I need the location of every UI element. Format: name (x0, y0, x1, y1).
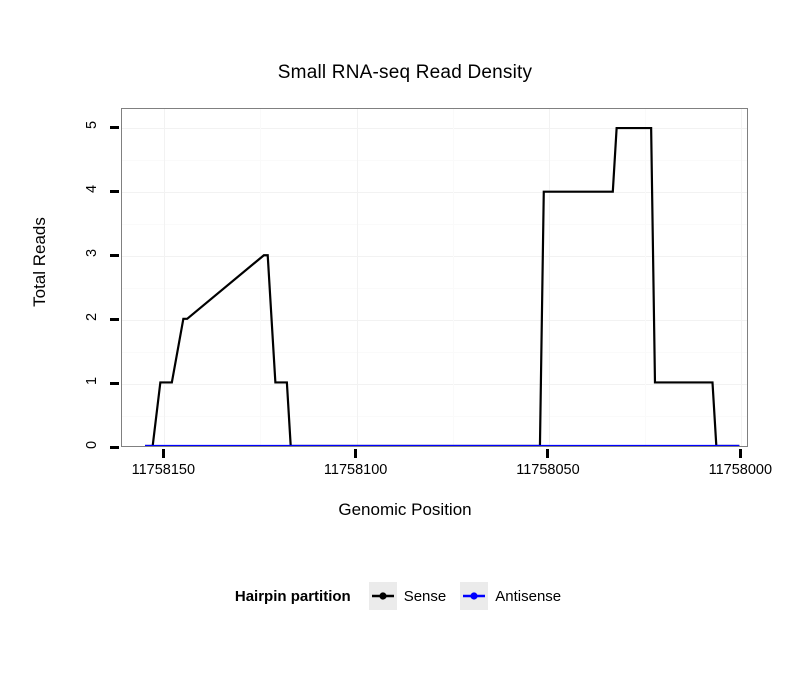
x-tick (739, 449, 742, 458)
legend-title: Hairpin partition (235, 588, 351, 605)
x-tick-label: 11758150 (98, 462, 228, 478)
legend-label-sense: Sense (404, 588, 447, 605)
legend-label-antisense: Antisense (495, 588, 561, 605)
legend-key-sense-icon (369, 582, 397, 610)
series-layer (122, 109, 747, 446)
x-tick-label: 11758050 (483, 462, 613, 478)
y-tick (110, 190, 119, 193)
legend-item-sense[interactable]: Sense (369, 582, 447, 610)
series-line-sense (145, 128, 739, 446)
y-tick (110, 382, 119, 385)
chart-root: Small RNA-seq Read Density 1175815011758… (0, 0, 810, 690)
y-axis-title: Total Reads (30, 162, 50, 362)
x-tick (354, 449, 357, 458)
y-tick (110, 126, 119, 129)
x-tick-label: 11758000 (675, 462, 805, 478)
x-tick (162, 449, 165, 458)
x-tick (546, 449, 549, 458)
legend-item-antisense[interactable]: Antisense (460, 582, 561, 610)
legend: Hairpin partition Sense Antisense (0, 582, 810, 610)
y-tick (110, 318, 119, 321)
y-tick (110, 446, 119, 449)
y-tick-label: 1 (0, 373, 96, 389)
y-tick-label: 0 (0, 437, 96, 453)
x-axis-title: Genomic Position (0, 500, 810, 520)
x-tick-label: 11758100 (291, 462, 421, 478)
chart-title: Small RNA-seq Read Density (0, 62, 810, 84)
legend-key-antisense-icon (460, 582, 488, 610)
y-tick (110, 254, 119, 257)
y-tick-label: 5 (0, 117, 96, 133)
plot-panel (121, 108, 748, 447)
